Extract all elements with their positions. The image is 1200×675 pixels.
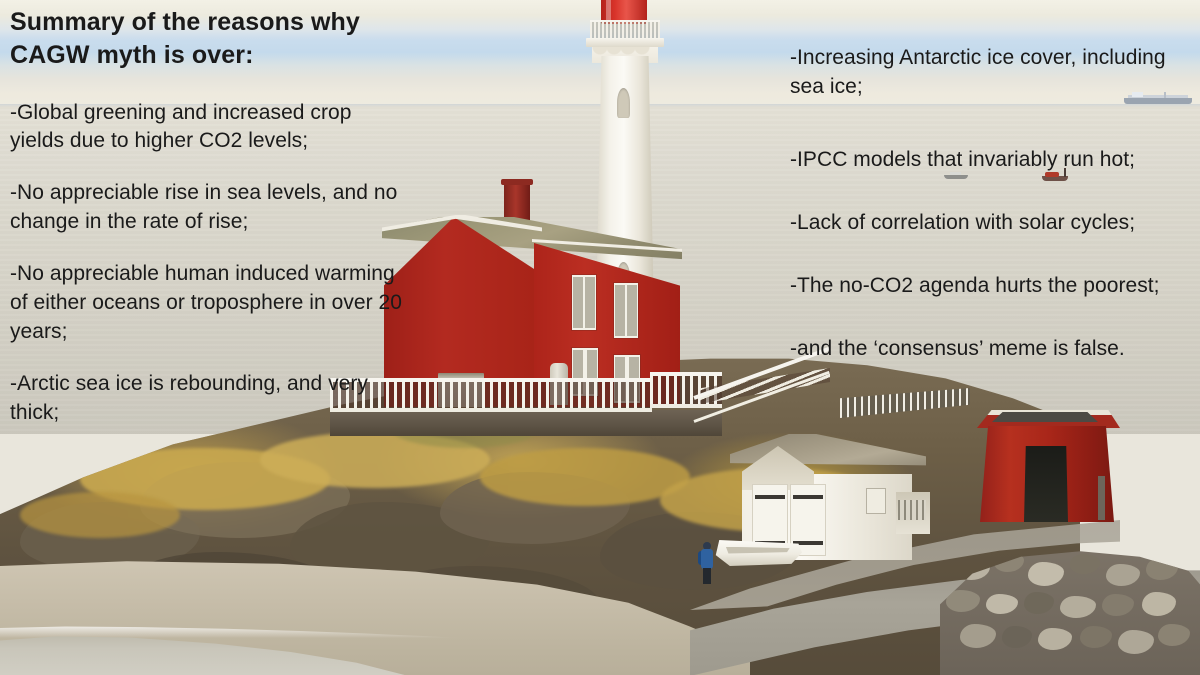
bullet-item: -Lack of correlation with solar cycles; xyxy=(790,209,1192,238)
left-text-column: Summary of the reasons why CAGW myth is … xyxy=(10,6,410,451)
bullet-item: -No appreciable rise in sea levels, and … xyxy=(10,179,410,237)
boathouse-annex xyxy=(896,492,930,534)
blockhouse-roof-deck xyxy=(992,412,1098,422)
bullet-item: -Global greening and increased crop yiel… xyxy=(10,99,410,157)
right-text-column: -Increasing Antarctic ice cover, includi… xyxy=(790,44,1192,398)
gallery-deck xyxy=(586,38,664,47)
tower-window-upper xyxy=(617,88,630,118)
bollard-post xyxy=(1098,476,1105,520)
bullet-item: -IPCC models that invariably run hot; xyxy=(790,146,1192,175)
person xyxy=(700,542,714,584)
bullet-item: -Arctic sea ice is rebounding, and very … xyxy=(10,370,410,428)
bullet-item: -Increasing Antarctic ice cover, includi… xyxy=(790,44,1192,102)
rowboat xyxy=(714,540,802,566)
information-sign xyxy=(866,488,886,514)
house-window xyxy=(614,283,638,338)
slide-canvas: Summary of the reasons why CAGW myth is … xyxy=(0,0,1200,675)
blockhouse-doorway xyxy=(1024,446,1068,522)
chimney xyxy=(504,179,530,223)
gallery-railing xyxy=(590,20,660,40)
page-title: Summary of the reasons why CAGW myth is … xyxy=(10,6,410,73)
bullet-item: -and the ‘consensus’ meme is false. xyxy=(790,335,1192,364)
bullet-item: -No appreciable human induced warming of… xyxy=(10,260,410,347)
house-window xyxy=(572,275,596,330)
red-blockhouse xyxy=(978,410,1116,534)
bullet-item: -The no-CO2 agenda hurts the poorest; xyxy=(790,272,1192,301)
